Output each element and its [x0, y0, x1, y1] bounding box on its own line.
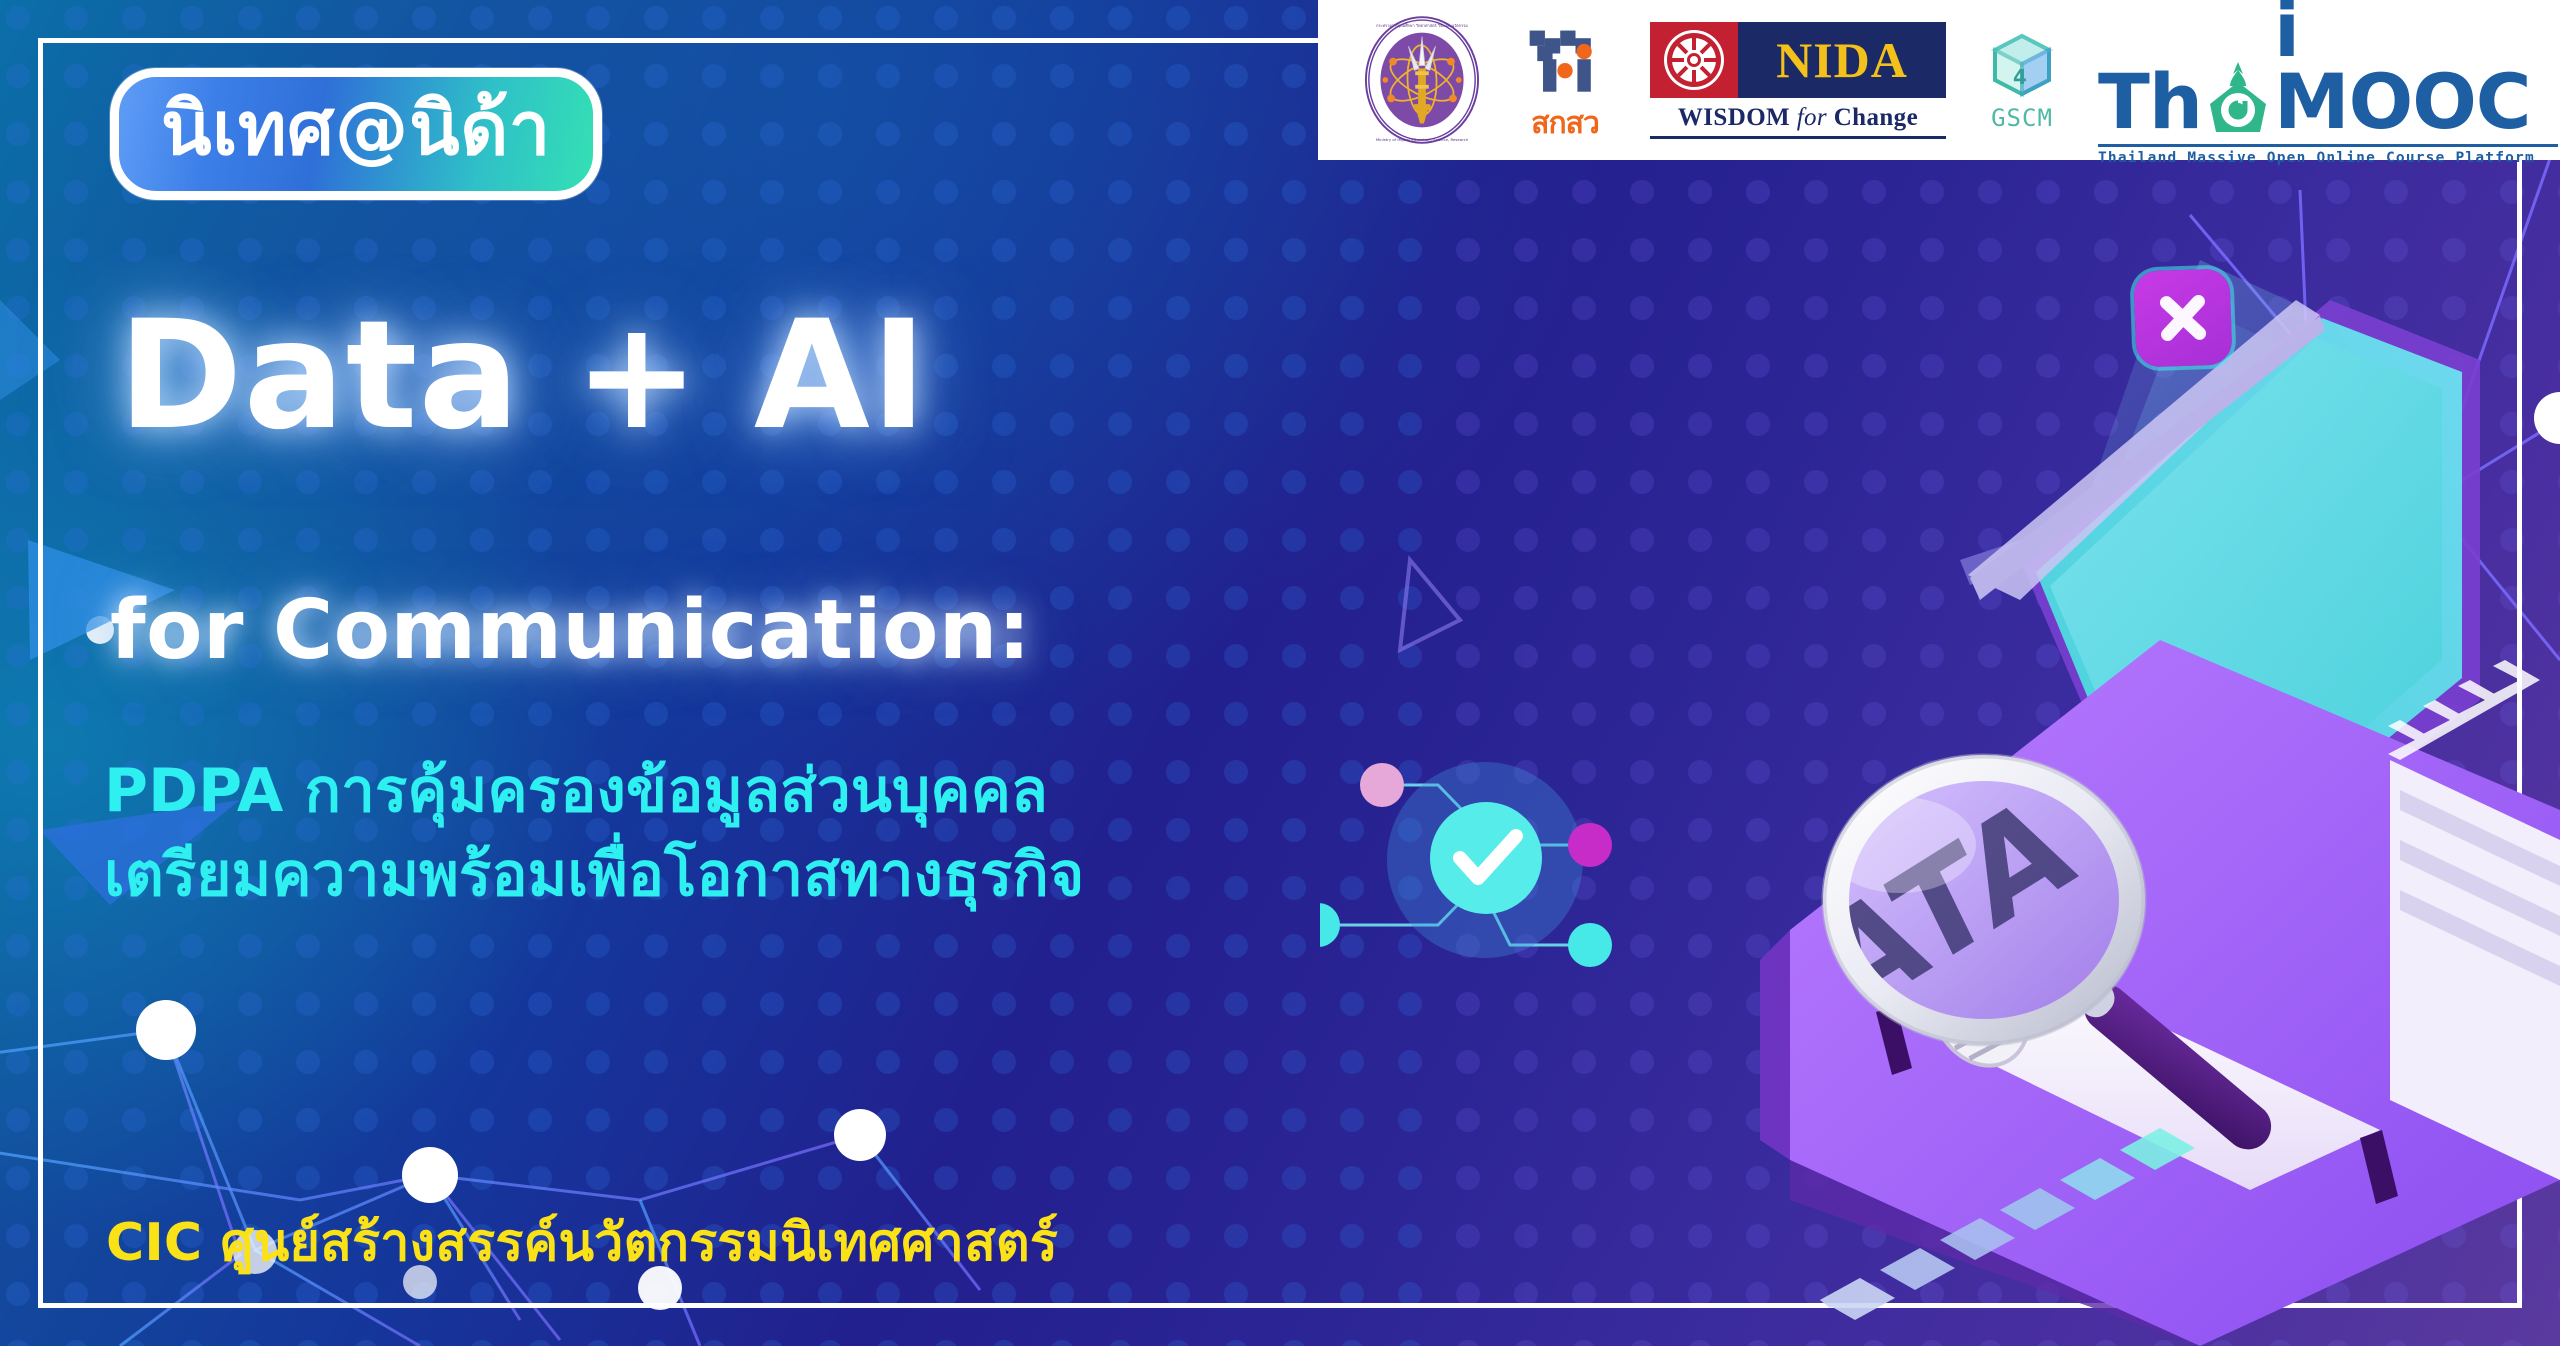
thaimooc-word-2: i MOOC — [2274, 0, 2558, 138]
nida-tagline-2: for — [1797, 104, 1834, 131]
gscm-wordmark: GSCM — [1991, 106, 2053, 130]
svg-text:Ministry of Higher Education,: Ministry of Higher Education, Science, R… — [1376, 137, 1469, 142]
nida-seal-block — [1650, 22, 1738, 98]
logo-nida: NIDA WISDOM for Change — [1650, 22, 1946, 139]
course-banner: DATA — [0, 0, 2560, 1346]
nida-rule — [1650, 136, 1946, 139]
tsri-wordmark: สกสว — [1531, 109, 1599, 139]
page-title: Data + AI — [118, 300, 928, 453]
page-subtitle: for Communication: — [110, 588, 1031, 674]
nida-wordmark: NIDA — [1776, 35, 1908, 85]
nida-tagline-3: Change — [1834, 104, 1918, 131]
program-badge-label: นิเทศ@นิด้า — [161, 91, 551, 169]
isometric-book-graphic: DATA — [1320, 0, 2560, 1346]
logo-gscm: 4 GSCM — [1972, 30, 2072, 130]
organizer-label: CIC ศูนย์สร้างสรรค์นวัตกรรมนิเทศศาสตร์ — [106, 1200, 1058, 1283]
thaimooc-tagline: Thailand Massive Open Online Course Plat… — [2098, 144, 2558, 166]
logo-thaimooc: Th i MOOC Thailand Massive Open Online C… — [2098, 0, 2558, 166]
nida-wordmark-block: NIDA — [1738, 22, 1946, 98]
thaimooc-word-1: Th — [2098, 66, 2202, 138]
program-badge: นิเทศ@นิด้า — [110, 68, 602, 200]
topic-line-1: PDPA การคุ้มครองข้อมูลส่วนบุคคล — [104, 758, 1048, 825]
logo-tsri: สกสว — [1506, 18, 1624, 142]
nida-tagline: WISDOM for Change — [1650, 104, 1946, 132]
banner-content: นิเทศ@นิด้า Data + AI for Communication:… — [0, 0, 1380, 1346]
ministry-seal-icon: กระทรวงการอุดมศึกษา วิทยาศาสตร์ วิจัยและ… — [1364, 15, 1480, 145]
nida-tagline-1: WISDOM — [1678, 104, 1797, 131]
book-illustration: DATA — [1320, 0, 2560, 1346]
thaimooc-wordmark-row: Th i MOOC — [2098, 0, 2558, 138]
topic-line-2: เตรียมความพร้อมเพื่อโอกาสทางธุรกิจ — [104, 842, 1084, 909]
tsri-mark-icon — [1522, 21, 1608, 107]
close-icon — [2133, 268, 2232, 367]
logo-ministry: กระทรวงการอุดมศึกษา วิทยาศาสตร์ วิจัยและ… — [1364, 15, 1480, 145]
thaimooc-a-glyph — [2202, 60, 2274, 138]
gscm-cube-icon: 4 — [1983, 30, 2061, 104]
nida-seal-icon — [1662, 28, 1726, 92]
svg-text:4: 4 — [2013, 65, 2027, 89]
thai-pavilion-a-icon — [2202, 60, 2274, 138]
x-glyph — [2152, 287, 2214, 349]
sponsor-logo-bar: กระทรวงการอุดมศึกษา วิทยาศาสตร์ วิจัยและ… — [1318, 0, 2560, 160]
